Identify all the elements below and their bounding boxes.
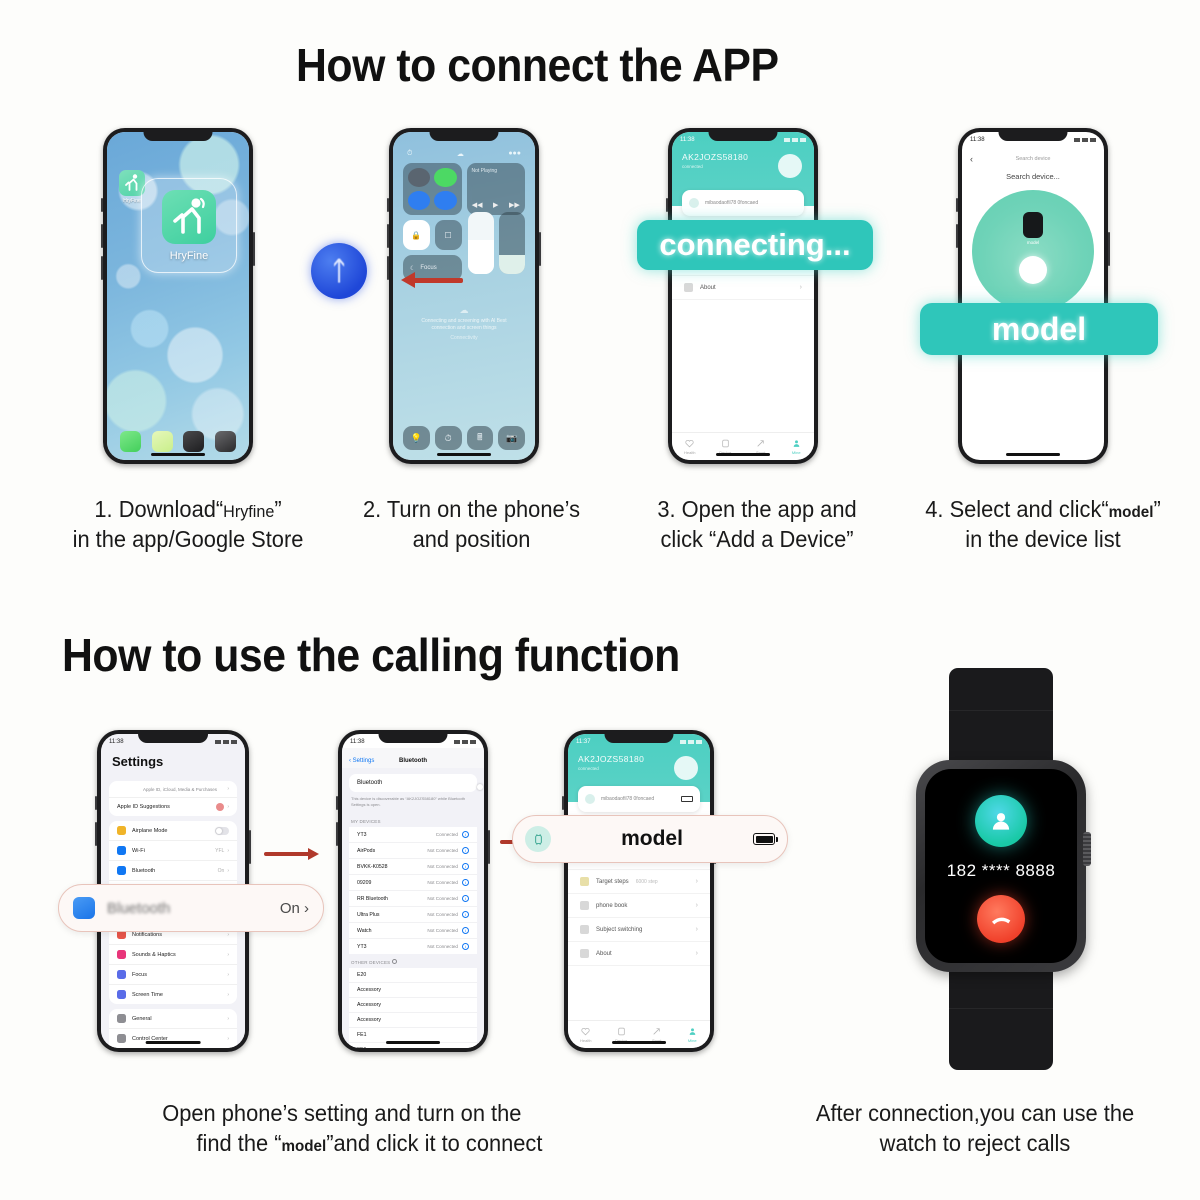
device-card[interactable]: mibaodaofil78 0foncaed: [682, 190, 804, 216]
settings-row-airplane-mode[interactable]: Airplane Mode: [109, 821, 237, 841]
control-center-panel: ⏱ ☁ ●●● Not Playing ◀◀: [393, 132, 535, 460]
wifi-icon: [792, 138, 798, 142]
watch-glyph: [532, 833, 545, 846]
menu-item-about[interactable]: About ›: [568, 942, 710, 966]
bt-device-row[interactable]: 09209Not Connectedi: [349, 875, 477, 891]
volume-up-button: [387, 224, 389, 248]
status-time: 11:38: [680, 137, 695, 143]
settings-row-general[interactable]: General ›: [109, 1009, 237, 1029]
wifi-icon: [1082, 138, 1088, 142]
control-center-status: ⏱ ☁ ●●●: [403, 150, 525, 163]
calling-left-line2: find the “model”and click it to connect: [134, 1128, 657, 1158]
info-icon[interactable]: i: [462, 911, 469, 918]
phone-home-screen: HryFine HryFine: [103, 128, 253, 464]
status-icons: [215, 740, 237, 744]
step-number: 4.: [925, 496, 943, 522]
profile-icon: [688, 1027, 697, 1036]
next-icon[interactable]: ▶▶: [509, 201, 520, 209]
wifi-toggle[interactable]: [408, 191, 430, 210]
calling-left-line1: Open phone’s setting and turn on the: [134, 1098, 657, 1128]
device-status: Not Connected: [427, 912, 458, 917]
step-text-post: ”: [274, 496, 281, 522]
infographic-page: How to connect the APP HryFine: [0, 0, 1200, 1200]
arrow-settings-to-bluetooth: [264, 848, 324, 860]
device-name: Accessory: [357, 1017, 381, 1023]
control-center-shortcuts: 💡 ⏱ 🖩 📷: [403, 426, 525, 450]
step-line2: click “Add a Device”: [634, 524, 879, 554]
device-status: Not Connected: [427, 864, 458, 869]
settings-row-apple-id-note[interactable]: Apple ID, iCloud, Media & Purchases ›: [109, 781, 237, 798]
device-name: RR Bluetooth: [357, 896, 388, 902]
home-indicator: [146, 1041, 201, 1044]
bluetooth-note: This device is discoverable as “AK2JOZS5…: [342, 792, 484, 814]
phone-screen: 11:37 AK2JOZS58180 connected mibaodaofil…: [568, 734, 710, 1048]
settings-value: YFL: [215, 848, 224, 854]
volume-up-button: [956, 224, 958, 248]
hint-text: Connecting and screening with Al Best co…: [409, 318, 519, 333]
device-name: E20: [357, 972, 366, 978]
device-status: Connected: [436, 832, 458, 837]
device-icon: [617, 1027, 626, 1036]
phone-screen: 11:38 AK2JOZS58180 connected mibaodaofil…: [672, 132, 814, 460]
line2-brand: model: [281, 1138, 326, 1155]
wifi-icon: [688, 740, 694, 744]
info-icon[interactable]: i: [462, 831, 469, 838]
caption-step-3: 3. Open the app and click “Add a Device”: [634, 494, 879, 555]
bluetooth-toggle-row[interactable]: Bluetooth: [349, 774, 477, 792]
watch-crown-button[interactable]: [1083, 832, 1091, 866]
apple-id-note: Apple ID, iCloud, Media & Purchases: [143, 787, 217, 792]
device-name: FE1: [357, 1032, 367, 1038]
power-button: [253, 232, 255, 266]
info-icon[interactable]: i: [462, 847, 469, 854]
sport-arrow-icon: [652, 1027, 661, 1036]
status-time: 11:38: [350, 739, 365, 745]
device-name: 09209: [357, 880, 371, 886]
notch: [144, 128, 213, 141]
device-name: BVKK-K0528: [357, 864, 388, 870]
phone-icon[interactable]: [120, 431, 141, 452]
phone-app-connecting: 11:38 AK2JOZS58180 connected mibaodaofil…: [668, 128, 818, 464]
volume-up-button: [95, 822, 97, 846]
tab-mine[interactable]: Mine: [675, 1021, 711, 1048]
smartwatch-incoming-call: 182 **** 8888: [908, 668, 1094, 1070]
notch: [379, 730, 448, 743]
chevron-right-icon: ›: [696, 878, 698, 885]
settings-label: General: [132, 1016, 152, 1022]
menu-value: 6000 step: [636, 879, 658, 885]
cc-center-indicator: ☁: [457, 150, 464, 158]
settings-row-control-center[interactable]: Control Center ›: [109, 1029, 237, 1048]
device-card-text: mibaodaofil78 0foncaed: [705, 200, 758, 206]
settings-value: On: [218, 868, 225, 874]
chevron-right-icon: ›: [696, 902, 698, 909]
device-icon: [721, 439, 730, 448]
airplane-mode-toggle[interactable]: [408, 168, 430, 187]
nav-bar: ‹ Search device: [962, 146, 1104, 168]
bt-other-row[interactable]: E20: [349, 968, 477, 983]
heart-icon: [581, 1027, 590, 1036]
bt-device-row[interactable]: YT3Connectedi: [349, 827, 477, 843]
bt-other-row[interactable]: Accessory: [349, 1013, 477, 1028]
bt-device-row[interactable]: BVKK-K0528Not Connectedi: [349, 859, 477, 875]
page-title-calling-function: How to use the calling function: [62, 628, 680, 682]
hryfine-app-name: HryFine: [170, 250, 209, 262]
found-device-label: model: [1027, 240, 1039, 245]
general-icon: [117, 1014, 126, 1023]
cellular-data-toggle[interactable]: [434, 168, 456, 187]
chevron-right-icon: ›: [227, 952, 229, 958]
home-indicator: [612, 1041, 666, 1044]
device-name: FE1: [357, 1047, 367, 1048]
bluetooth-icon: [117, 866, 126, 875]
device-name: AirPods: [357, 848, 375, 854]
calling-right-line1: After connection,you can use the: [766, 1098, 1184, 1128]
volume-slider[interactable]: [499, 212, 525, 274]
mute-switch: [336, 796, 338, 810]
contact-icon: [975, 795, 1027, 847]
info-icon[interactable]: i: [462, 863, 469, 870]
step-line2: in the app/Google Store: [46, 524, 331, 554]
section-my-devices: MY DEVICES: [342, 814, 484, 827]
wifi-icon: [117, 846, 126, 855]
previous-icon[interactable]: ◀◀: [472, 201, 483, 209]
watch-icon: [525, 826, 551, 852]
status-time: 11:38: [970, 137, 985, 143]
chevron-right-icon: ›: [227, 992, 229, 998]
notch: [138, 730, 208, 743]
sport-arrow-icon: [756, 439, 765, 448]
airplane-toggle[interactable]: [215, 827, 229, 835]
device-name: Accessory: [357, 1002, 381, 1008]
calculator-icon[interactable]: 🖩: [467, 426, 494, 450]
nav-bar: ‹ Settings Bluetooth: [342, 748, 484, 768]
tab-label: Health: [684, 450, 696, 455]
cloud-icon: ☁: [409, 304, 519, 318]
settings-label: Focus: [132, 972, 147, 978]
hryfine-app-callout[interactable]: HryFine: [141, 178, 237, 273]
status-icons: [454, 740, 476, 744]
chevron-right-icon: ›: [800, 284, 802, 291]
home-indicator: [151, 453, 205, 456]
reject-call-button[interactable]: [977, 895, 1025, 943]
status-icons: [784, 138, 806, 142]
phone-app-device-page: 11:37 AK2JOZS58180 connected mibaodaofil…: [564, 730, 714, 1052]
device-name: Accessory: [357, 987, 381, 993]
line2-pre: find the “: [196, 1130, 281, 1156]
bt-device-row[interactable]: Ultra PlusNot Connectedi: [349, 907, 477, 923]
menu-item-subject-switching[interactable]: Subject switching ›: [568, 918, 710, 942]
step-line1: Open the app and: [682, 496, 857, 522]
play-icon[interactable]: ▶: [493, 201, 498, 209]
device-name: YT3: [357, 832, 367, 838]
nav-title: Bluetooth: [342, 758, 484, 764]
step-line2: and position: [341, 524, 602, 554]
device-name: Watch: [357, 928, 372, 934]
control-center-icon: [117, 1034, 126, 1043]
volume-fill: [499, 255, 525, 274]
bt-other-row[interactable]: Accessory: [349, 983, 477, 998]
screen-lock-rotation-toggle[interactable]: 🔒: [403, 220, 430, 250]
step-number: 2.: [363, 496, 381, 522]
caption-calling-right: After connection,you can use the watch t…: [766, 1098, 1184, 1159]
bt-device-row[interactable]: WatchNot Connectedi: [349, 923, 477, 939]
watch-screen: 182 **** 8888: [925, 769, 1077, 963]
step-number: 1.: [94, 496, 112, 522]
avatar[interactable]: [674, 756, 698, 780]
settings-row-apple-id-suggestions[interactable]: Apple ID Suggestions ›: [109, 798, 237, 816]
mute-switch: [387, 198, 389, 212]
rotation-lock-icon: 🔒: [411, 231, 421, 240]
watch-strap-top: [949, 668, 1053, 772]
power-button: [539, 232, 541, 266]
phonebook-icon: [580, 901, 589, 910]
settings-label: Bluetooth: [132, 868, 155, 874]
phone-screen: 11:38 ‹ Search device Search device... m…: [962, 132, 1104, 460]
brightness-slider[interactable]: [468, 212, 494, 274]
info-icon[interactable]: i: [462, 895, 469, 902]
device-status: Not Connected: [427, 880, 458, 885]
search-subtitle: Search device...: [962, 172, 1104, 181]
nav-title: Search device: [962, 156, 1104, 162]
caller-number: 182 **** 8888: [925, 861, 1077, 881]
bluetooth-state: On: [280, 900, 300, 917]
camera-icon[interactable]: 📷: [498, 426, 525, 450]
bt-device-row[interactable]: RR BluetoothNot Connectedi: [349, 891, 477, 907]
suggestions-icon: [216, 803, 224, 811]
chevron-right-icon: ›: [227, 1036, 229, 1042]
row-right: YFL ›: [215, 848, 229, 854]
media-title: Not Playing: [472, 168, 521, 174]
banner-model: model: [920, 303, 1158, 355]
caption-step-1: 1. Download“Hryfine” in the app/Google S…: [46, 494, 331, 555]
profile-icon: [792, 439, 801, 448]
info-icon[interactable]: i: [462, 927, 469, 934]
signal-icon: [215, 740, 221, 744]
bluetooth-glyph: ᛏ: [331, 256, 347, 287]
tab-mine[interactable]: Mine: [779, 433, 815, 460]
camera-icon[interactable]: [215, 431, 236, 452]
settings-row-wifi[interactable]: Wi-Fi YFL ›: [109, 841, 237, 861]
settings-label: Airplane Mode: [132, 828, 167, 834]
info-icon: [684, 283, 693, 292]
phone-center-icon: [1019, 256, 1047, 284]
focus-label: Focus: [420, 265, 436, 271]
device-status: Not Connected: [427, 928, 458, 933]
found-device-icon[interactable]: [1023, 212, 1043, 238]
battery-icon: [753, 833, 775, 845]
control-center-row2: 🔒 ☐: [403, 220, 462, 250]
sounds-icon: [117, 950, 126, 959]
device-card[interactable]: mibaodaofil78 0foncaed: [578, 786, 700, 812]
settings-label: Wi-Fi: [132, 848, 145, 854]
settings-group-notifications: Notifications › Sounds & Haptics › Focus…: [109, 925, 237, 1004]
home-indicator: [437, 453, 491, 456]
connectivity-tile: [403, 163, 462, 215]
bluetooth-toggle[interactable]: [434, 191, 456, 210]
volume-up-button: [101, 224, 103, 248]
settings-row-focus[interactable]: Focus ›: [109, 965, 237, 985]
page-title-connect-app: How to connect the APP: [296, 38, 779, 92]
timer-icon[interactable]: ⏱: [435, 426, 462, 450]
wifi-icon: [462, 740, 468, 744]
bt-device-row[interactable]: AirPodsNot Connectedi: [349, 843, 477, 859]
battery-icon: [696, 740, 702, 744]
dock: [107, 431, 249, 452]
caption-step-4: 4. Select and click“model” in the device…: [905, 494, 1181, 555]
settings-row-screen-time[interactable]: Screen Time ›: [109, 985, 237, 1004]
bluetooth-icon: [73, 897, 95, 919]
my-devices-list: YT3Connectedi AirPodsNot Connectedi BVKK…: [349, 827, 477, 954]
home-indicator: [716, 453, 770, 456]
contact-glyph: [988, 808, 1014, 834]
status-icons: [680, 740, 702, 744]
calling-right-line2: watch to reject calls: [766, 1128, 1184, 1158]
tab-label: Health: [580, 1038, 592, 1043]
control-center-grid: Not Playing ◀◀ ▶ ▶▶: [403, 163, 525, 215]
step-line2: in the device list: [905, 524, 1181, 554]
bt-device-row[interactable]: YT3Not Connectedi: [349, 939, 477, 954]
phone-bluetooth-list: 11:38 ‹ Settings Bluetooth Bluetooth: [338, 730, 488, 1052]
messages-icon[interactable]: [152, 431, 173, 452]
step-text-pre: Download“: [119, 496, 223, 522]
bluetooth-toggle-card: Bluetooth: [349, 774, 477, 792]
hint-action: Connectivity: [409, 335, 519, 343]
status-time: 11:38: [109, 739, 124, 745]
device-name: Ultra Plus: [357, 912, 380, 918]
chevron-right-icon: ›: [696, 926, 698, 933]
settings-group-appleid: Apple ID, iCloud, Media & Purchases › Ap…: [109, 781, 237, 816]
caption-step-2: 2. Turn on the phone’s and position: [341, 494, 602, 555]
banner-connecting: connecting...: [637, 220, 873, 270]
volume-up-button: [336, 822, 338, 846]
settings-row-bluetooth[interactable]: Bluetooth On ›: [109, 861, 237, 881]
avatar[interactable]: [778, 154, 802, 178]
callout-label: model: [551, 827, 753, 851]
calculator-icon[interactable]: [183, 431, 204, 452]
chevron-right-icon: ›: [227, 786, 229, 792]
watch-icon: [585, 794, 595, 804]
battery-icon: [231, 740, 237, 744]
step-brand: Hryfine: [223, 502, 274, 521]
info-icon[interactable]: i: [462, 943, 469, 950]
chevron-right-icon: ›: [227, 804, 229, 810]
device-status: Not Connected: [427, 896, 458, 901]
volume-down-button: [387, 256, 389, 280]
mute-switch: [666, 198, 668, 212]
tab-health[interactable]: Health: [672, 433, 708, 460]
device-status: Not Connected: [427, 848, 458, 853]
battery-icon: [470, 740, 476, 744]
step-line1: Turn on the phone’s: [387, 496, 580, 522]
row-right: ›: [216, 803, 229, 811]
switch-icon: [580, 925, 589, 934]
phone-screen: ⏱ ☁ ●●● Not Playing ◀◀: [393, 132, 535, 460]
phone-control-center: ⏱ ☁ ●●● Not Playing ◀◀: [389, 128, 539, 464]
watch-body: 182 **** 8888: [916, 760, 1086, 972]
chevron-right-icon: ›: [227, 868, 229, 874]
flashlight-icon[interactable]: 💡: [403, 426, 430, 450]
mute-switch: [95, 796, 97, 810]
settings-label: Apple ID Suggestions: [117, 804, 170, 810]
control-center-hint: ☁ Connecting and screening with Al Best …: [393, 304, 535, 342]
notch: [999, 128, 1068, 141]
wifi-icon: [223, 740, 229, 744]
target-icon: [580, 877, 589, 886]
bt-other-row[interactable]: Accessory: [349, 998, 477, 1013]
signal-icon: [784, 138, 790, 142]
section-other-devices: OTHER DEVICES: [342, 954, 484, 968]
power-button: [1108, 232, 1110, 266]
chevron-right-icon: ›: [696, 950, 698, 957]
callout-bluetooth-row[interactable]: Bluetooth On ›: [58, 884, 324, 932]
status-time: 11:37: [576, 739, 591, 745]
settings-label: Screen Time: [132, 992, 163, 998]
device-status: Not Connected: [427, 944, 458, 949]
home-indicator: [1006, 453, 1060, 456]
info-icon[interactable]: i: [462, 879, 469, 886]
chevron-right-icon: ›: [227, 972, 229, 978]
battery-icon: [1090, 138, 1096, 142]
sliders-group: [468, 212, 525, 274]
signal-icon: [680, 740, 686, 744]
home-indicator: [386, 1041, 440, 1044]
settings-row-sounds[interactable]: Sounds & Haptics ›: [109, 945, 237, 965]
tab-label: Mine: [688, 1038, 697, 1043]
screen-mirroring-toggle[interactable]: ☐: [435, 220, 462, 250]
device-card-text: mibaodaofil78 0foncaed: [601, 796, 654, 802]
menu-label: About: [596, 951, 612, 957]
mute-switch: [562, 796, 564, 810]
heart-icon: [685, 439, 694, 448]
callout-model-device-row[interactable]: model: [512, 815, 788, 863]
hryfine-tile-large: [162, 190, 216, 244]
power-button: [249, 830, 251, 864]
cc-right-indicator: ●●●: [508, 150, 521, 158]
chevron-right-icon: ›: [304, 900, 309, 917]
notch: [605, 730, 674, 743]
chevron-right-icon: ›: [227, 848, 229, 854]
battery-icon: [681, 796, 693, 802]
settings-label: Sounds & Haptics: [132, 952, 176, 958]
watch-strap-bottom: [949, 966, 1053, 1070]
menu-item-target-steps[interactable]: Target steps 6000 step ›: [568, 870, 710, 894]
focus-icon: [117, 970, 126, 979]
chevron-right-icon: ›: [227, 932, 229, 938]
other-devices-list: E20 Accessory Accessory Accessory FE1 FE…: [349, 968, 477, 1048]
radar-scan-area: model: [972, 190, 1094, 312]
menu-label: Target steps: [596, 879, 629, 885]
bluetooth-icon-blob: ᛏ: [311, 243, 367, 299]
caption-calling-left: Open phone’s setting and turn on the fin…: [134, 1098, 657, 1159]
battery-icon: [800, 138, 806, 142]
brightness-fill: [468, 240, 494, 274]
mute-switch: [956, 198, 958, 212]
moon-icon: ☾: [410, 265, 415, 272]
spinner-icon: [392, 959, 397, 964]
cc-left-indicator: ⏱: [407, 150, 412, 158]
bluetooth-label: Bluetooth: [357, 780, 382, 786]
menu-item-phone-book[interactable]: phone book ›: [568, 894, 710, 918]
step-brand: model: [1109, 504, 1154, 521]
tab-health[interactable]: Health: [568, 1021, 604, 1048]
media-tile[interactable]: Not Playing ◀◀ ▶ ▶▶: [467, 163, 526, 215]
row-right: On ›: [218, 868, 229, 874]
phone-screen: 11:38 ‹ Settings Bluetooth Bluetooth: [342, 734, 484, 1048]
phone-search-device: 11:38 ‹ Search device Search device... m…: [958, 128, 1108, 464]
menu-item-about[interactable]: About ›: [672, 276, 814, 300]
menu-label: Subject switching: [596, 927, 642, 933]
